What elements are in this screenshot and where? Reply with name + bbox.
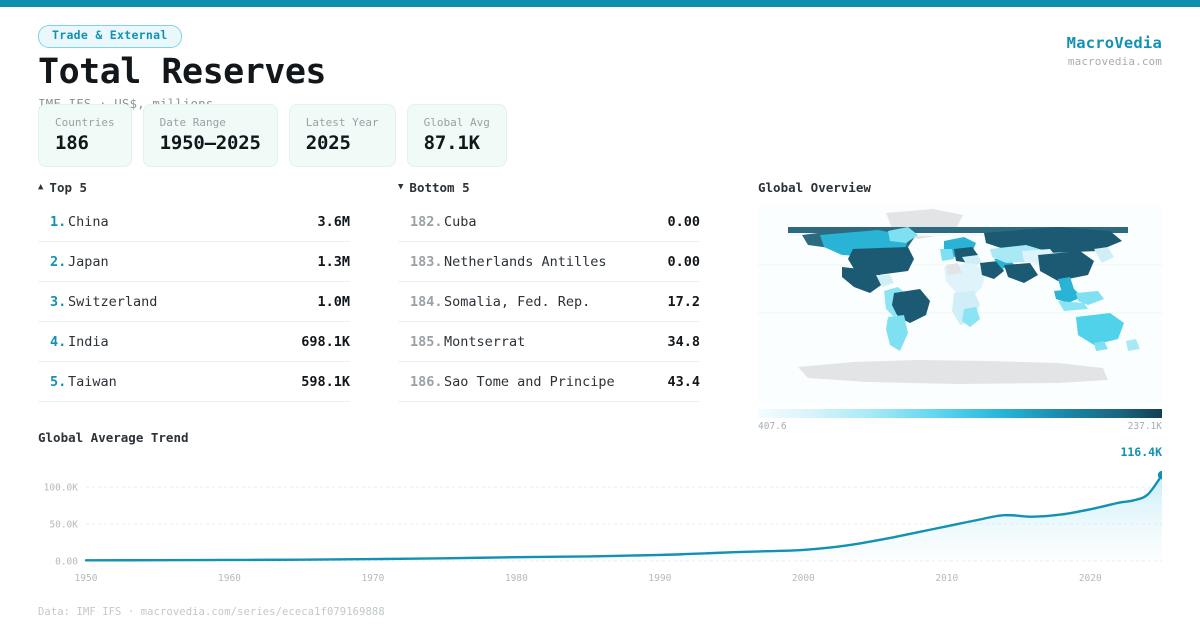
rank-number: 5. xyxy=(38,374,68,390)
top-ranking-title: ▲ Top 5 xyxy=(38,180,350,195)
stat-label: Latest Year xyxy=(306,116,379,129)
rank-country: Sao Tome and Principe xyxy=(444,374,667,390)
rank-value: 1.0M xyxy=(317,294,350,310)
chart-x-tick-label: 1970 xyxy=(361,573,384,584)
chart-y-tick-label: 50.0K xyxy=(49,520,78,531)
chart-x-tick-label: 1960 xyxy=(218,573,241,584)
rank-country: Japan xyxy=(68,254,317,270)
table-row: 183. Netherlands Antilles 0.00 xyxy=(398,242,700,282)
category-badge: Trade & External xyxy=(38,25,182,48)
brand-name: MacroVedia xyxy=(1067,34,1162,52)
chart-x-ticks: 19501960197019801990200020102020 xyxy=(75,573,1102,584)
map-legend: 407.6 237.1K xyxy=(758,409,1162,432)
table-row: 5. Taiwan 598.1K xyxy=(38,362,350,402)
stat-label: Date Range xyxy=(160,116,261,129)
rank-value: 17.2 xyxy=(667,294,700,310)
rank-country: Montserrat xyxy=(444,334,667,350)
trend-title: Global Average Trend xyxy=(38,430,1162,445)
stat-value: 1950–2025 xyxy=(160,133,261,154)
rank-value: 598.1K xyxy=(301,374,350,390)
rank-country: Somalia, Fed. Rep. xyxy=(444,294,667,310)
rank-value: 1.3M xyxy=(317,254,350,270)
chart-area xyxy=(86,475,1162,561)
stat-label: Countries xyxy=(55,116,115,129)
trend-panel: Global Average Trend 100.0K50.0K0.00 195… xyxy=(38,430,1162,587)
table-row: 3. Switzerland 1.0M xyxy=(38,282,350,322)
brand-url: macrovedia.com xyxy=(1067,55,1162,68)
stat-card-latest-year: Latest Year 2025 xyxy=(289,104,396,167)
stat-card-global-avg: Global Avg 87.1K xyxy=(407,104,507,167)
stat-value: 87.1K xyxy=(424,133,490,154)
rank-country: Taiwan xyxy=(68,374,301,390)
footer-source: Data: IMF IFS · macrovedia.com/series/ec… xyxy=(38,606,385,618)
chart-x-tick-label: 1950 xyxy=(75,573,98,584)
rank-country: China xyxy=(68,214,317,230)
rank-country: Cuba xyxy=(444,214,667,230)
chart-y-tick-label: 100.0K xyxy=(44,483,79,494)
stat-cards: Countries 186 Date Range 1950–2025 Lates… xyxy=(38,104,507,167)
table-row: 2. Japan 1.3M xyxy=(38,242,350,282)
rank-value: 698.1K xyxy=(301,334,350,350)
dashboard-page: Trade & External Total Reserves IMF IFS … xyxy=(0,0,1200,630)
rank-number: 185. xyxy=(398,334,444,350)
rank-number: 186. xyxy=(398,374,444,390)
rank-value: 34.8 xyxy=(667,334,700,350)
chart-endpoint-label: 116.4K xyxy=(1120,445,1162,459)
stat-value: 2025 xyxy=(306,133,379,154)
chart-y-tick-label: 0.00 xyxy=(55,557,78,568)
chart-x-tick-label: 1990 xyxy=(648,573,671,584)
table-row: 186. Sao Tome and Principe 43.4 xyxy=(398,362,700,402)
rank-value: 0.00 xyxy=(667,254,700,270)
page-title: Total Reserves xyxy=(38,54,326,92)
rank-country: India xyxy=(68,334,301,350)
map-panel: Global Overview xyxy=(758,180,1162,432)
rank-number: 183. xyxy=(398,254,444,270)
stat-card-countries: Countries 186 xyxy=(38,104,132,167)
chart-x-tick-label: 2010 xyxy=(935,573,958,584)
top-ranking-panel: ▲ Top 5 1. China 3.6M 2. Japan 1.3M 3. S… xyxy=(38,180,350,402)
rank-number: 3. xyxy=(38,294,68,310)
bottom-ranking-title: ▼ Bottom 5 xyxy=(398,180,700,195)
top-ranking-label: Top 5 xyxy=(49,180,87,195)
chart-x-tick-label: 2020 xyxy=(1079,573,1102,584)
rank-number: 184. xyxy=(398,294,444,310)
rank-country: Netherlands Antilles xyxy=(444,254,667,270)
triangle-up-icon: ▲ xyxy=(38,183,43,192)
table-row: 4. India 698.1K xyxy=(38,322,350,362)
chart-y-ticks: 100.0K50.0K0.00 xyxy=(44,483,79,568)
legend-gradient-bar xyxy=(758,409,1162,418)
rank-country: Switzerland xyxy=(68,294,317,310)
rank-number: 4. xyxy=(38,334,68,350)
rank-number: 182. xyxy=(398,214,444,230)
rank-value: 0.00 xyxy=(667,214,700,230)
rank-value: 3.6M xyxy=(317,214,350,230)
chart-x-tick-label: 1980 xyxy=(505,573,528,584)
stat-card-date-range: Date Range 1950–2025 xyxy=(143,104,278,167)
bottom-ranking-panel: ▼ Bottom 5 182. Cuba 0.00 183. Netherlan… xyxy=(398,180,700,402)
map-svg xyxy=(758,205,1162,405)
brand: MacroVedia macrovedia.com xyxy=(1067,34,1162,68)
rank-value: 43.4 xyxy=(667,374,700,390)
table-row: 184. Somalia, Fed. Rep. 17.2 xyxy=(398,282,700,322)
stat-label: Global Avg xyxy=(424,116,490,129)
map-title: Global Overview xyxy=(758,180,1162,195)
page-header: Trade & External Total Reserves IMF IFS … xyxy=(38,24,326,111)
table-row: 185. Montserrat 34.8 xyxy=(398,322,700,362)
rank-number: 2. xyxy=(38,254,68,270)
chart-endpoint-dot xyxy=(1158,471,1162,479)
trend-chart: 100.0K50.0K0.00 195019601970198019902000… xyxy=(38,457,1162,587)
table-row: 1. China 3.6M xyxy=(38,202,350,242)
stat-value: 186 xyxy=(55,133,115,154)
top-accent-bar xyxy=(0,0,1200,7)
triangle-down-icon: ▼ xyxy=(398,183,403,192)
table-row: 182. Cuba 0.00 xyxy=(398,202,700,242)
bottom-ranking-label: Bottom 5 xyxy=(409,180,469,195)
world-choropleth-map xyxy=(758,205,1162,405)
rank-number: 1. xyxy=(38,214,68,230)
trend-chart-svg: 100.0K50.0K0.00 195019601970198019902000… xyxy=(38,457,1162,587)
chart-x-tick-label: 2000 xyxy=(792,573,815,584)
